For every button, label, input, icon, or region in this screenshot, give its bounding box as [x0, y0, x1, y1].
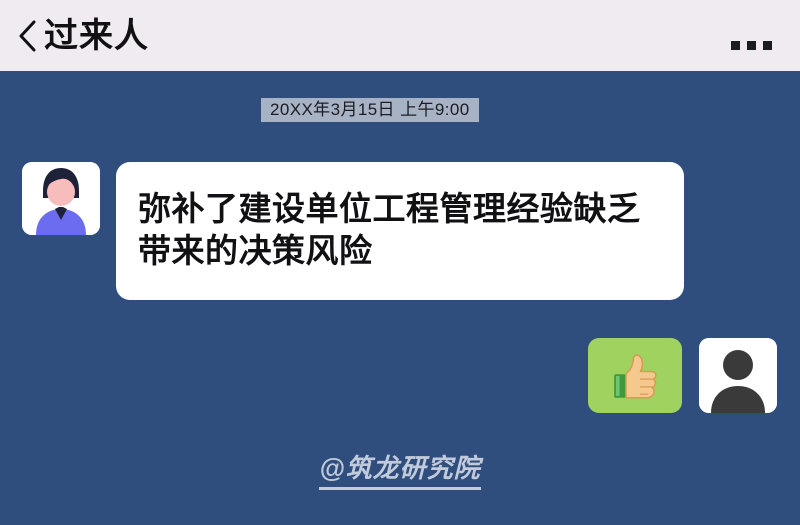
- nav-bar: 过来人: [0, 0, 800, 71]
- watermark-text: @筑龙研究院: [319, 453, 480, 490]
- message-bubble[interactable]: 弥补了建设单位工程管理经验缺乏带来的决策风险: [116, 162, 684, 300]
- more-dot: [731, 41, 740, 50]
- thumbs-up-icon[interactable]: [588, 338, 682, 413]
- more-options-icon[interactable]: [731, 20, 772, 52]
- more-dot: [763, 41, 772, 50]
- more-dot: [747, 41, 756, 50]
- message-timestamp: 20XX年3月15日 上午9:00: [261, 98, 479, 122]
- message-text: 弥补了建设单位工程管理经验缺乏带来的决策风险: [138, 188, 660, 272]
- back-chevron-icon[interactable]: [16, 16, 40, 56]
- person-avatar-icon[interactable]: [22, 162, 100, 235]
- anonymous-avatar-icon[interactable]: [699, 338, 777, 413]
- reaction-row: [588, 338, 777, 413]
- page-title: 过来人: [44, 19, 149, 53]
- message-row: 弥补了建设单位工程管理经验缺乏带来的决策风险: [22, 162, 684, 300]
- watermark: @筑龙研究院: [0, 448, 800, 485]
- chat-screen: 过来人 20XX年3月15日 上午9:00: [0, 0, 800, 525]
